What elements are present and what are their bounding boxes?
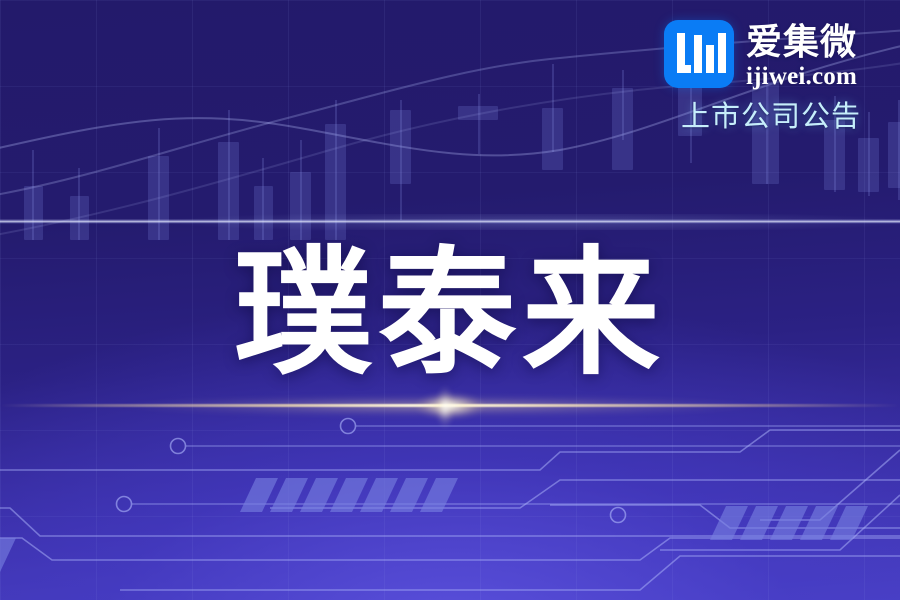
page-title: 璞泰来 xyxy=(0,226,900,402)
brand-wordmark: 爱集微 ijiwei.com xyxy=(746,20,857,90)
brand-logo-row: 爱集微 ijiwei.com xyxy=(664,20,878,90)
brand-name-cn: 爱集微 xyxy=(746,22,857,62)
brand-domain: ijiwei.com xyxy=(746,63,857,90)
ijiwei-bars-logo-icon xyxy=(664,20,734,88)
horizon-line xyxy=(0,219,900,224)
banner-subtitle: 上市公司公告 xyxy=(664,99,878,133)
announcement-banner: 爱集微 ijiwei.com 上市公司公告 璞泰来 xyxy=(0,0,900,600)
brand-logo-block: 爱集微 ijiwei.com 上市公司公告 xyxy=(664,20,878,133)
